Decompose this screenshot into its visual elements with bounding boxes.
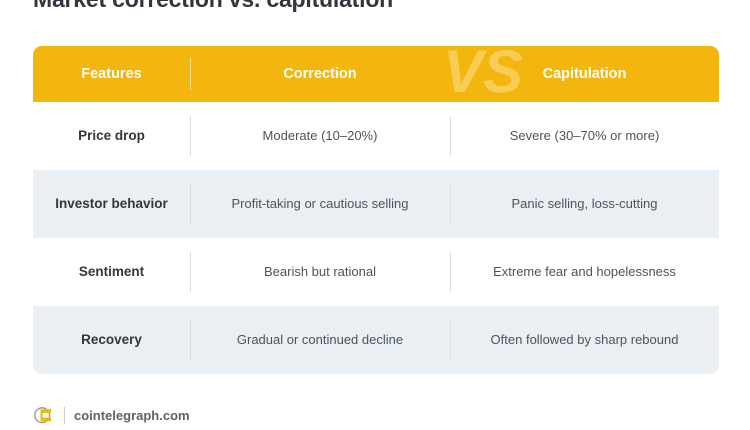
- row-column-divider-2: [450, 320, 451, 360]
- page-title: Market correction vs. capitulation: [33, 0, 393, 13]
- cell-correction: Profit-taking or cautious selling: [190, 170, 450, 238]
- footer-site-name: cointelegraph.com: [74, 408, 190, 423]
- cell-feature: Investor behavior: [33, 170, 190, 238]
- cell-capitulation: Severe (30–70% or more): [450, 102, 719, 170]
- comparison-table: VS Features Correction Capitulation Pric…: [33, 46, 719, 374]
- cell-feature: Recovery: [33, 306, 190, 374]
- table-row: Price drop Moderate (10–20%) Severe (30–…: [33, 102, 719, 170]
- cell-capitulation: Extreme fear and hopelessness: [450, 238, 719, 306]
- cointelegraph-logo-icon: [33, 404, 55, 426]
- row-column-divider-2: [450, 184, 451, 224]
- cell-correction: Gradual or continued decline: [190, 306, 450, 374]
- cell-capitulation: Panic selling, loss-cutting: [450, 170, 719, 238]
- row-column-divider-1: [190, 184, 191, 224]
- row-column-divider-1: [190, 320, 191, 360]
- cell-feature: Price drop: [33, 102, 190, 170]
- table-header-row: VS Features Correction Capitulation: [33, 46, 719, 102]
- footer-divider: [64, 407, 65, 424]
- row-column-divider-1: [190, 116, 191, 156]
- column-header-capitulation: Capitulation: [450, 46, 719, 102]
- table-row: Recovery Gradual or continued decline Of…: [33, 306, 719, 374]
- column-header-features: Features: [33, 46, 190, 102]
- cell-correction: Moderate (10–20%): [190, 102, 450, 170]
- row-column-divider-1: [190, 252, 191, 292]
- cell-capitulation: Often followed by sharp rebound: [450, 306, 719, 374]
- column-header-correction: Correction: [190, 46, 450, 102]
- cell-feature: Sentiment: [33, 238, 190, 306]
- row-column-divider-2: [450, 116, 451, 156]
- row-column-divider-2: [450, 252, 451, 292]
- table-row: Sentiment Bearish but rational Extreme f…: [33, 238, 719, 306]
- cell-correction: Bearish but rational: [190, 238, 450, 306]
- footer: cointelegraph.com: [33, 404, 190, 426]
- table-row: Investor behavior Profit-taking or cauti…: [33, 170, 719, 238]
